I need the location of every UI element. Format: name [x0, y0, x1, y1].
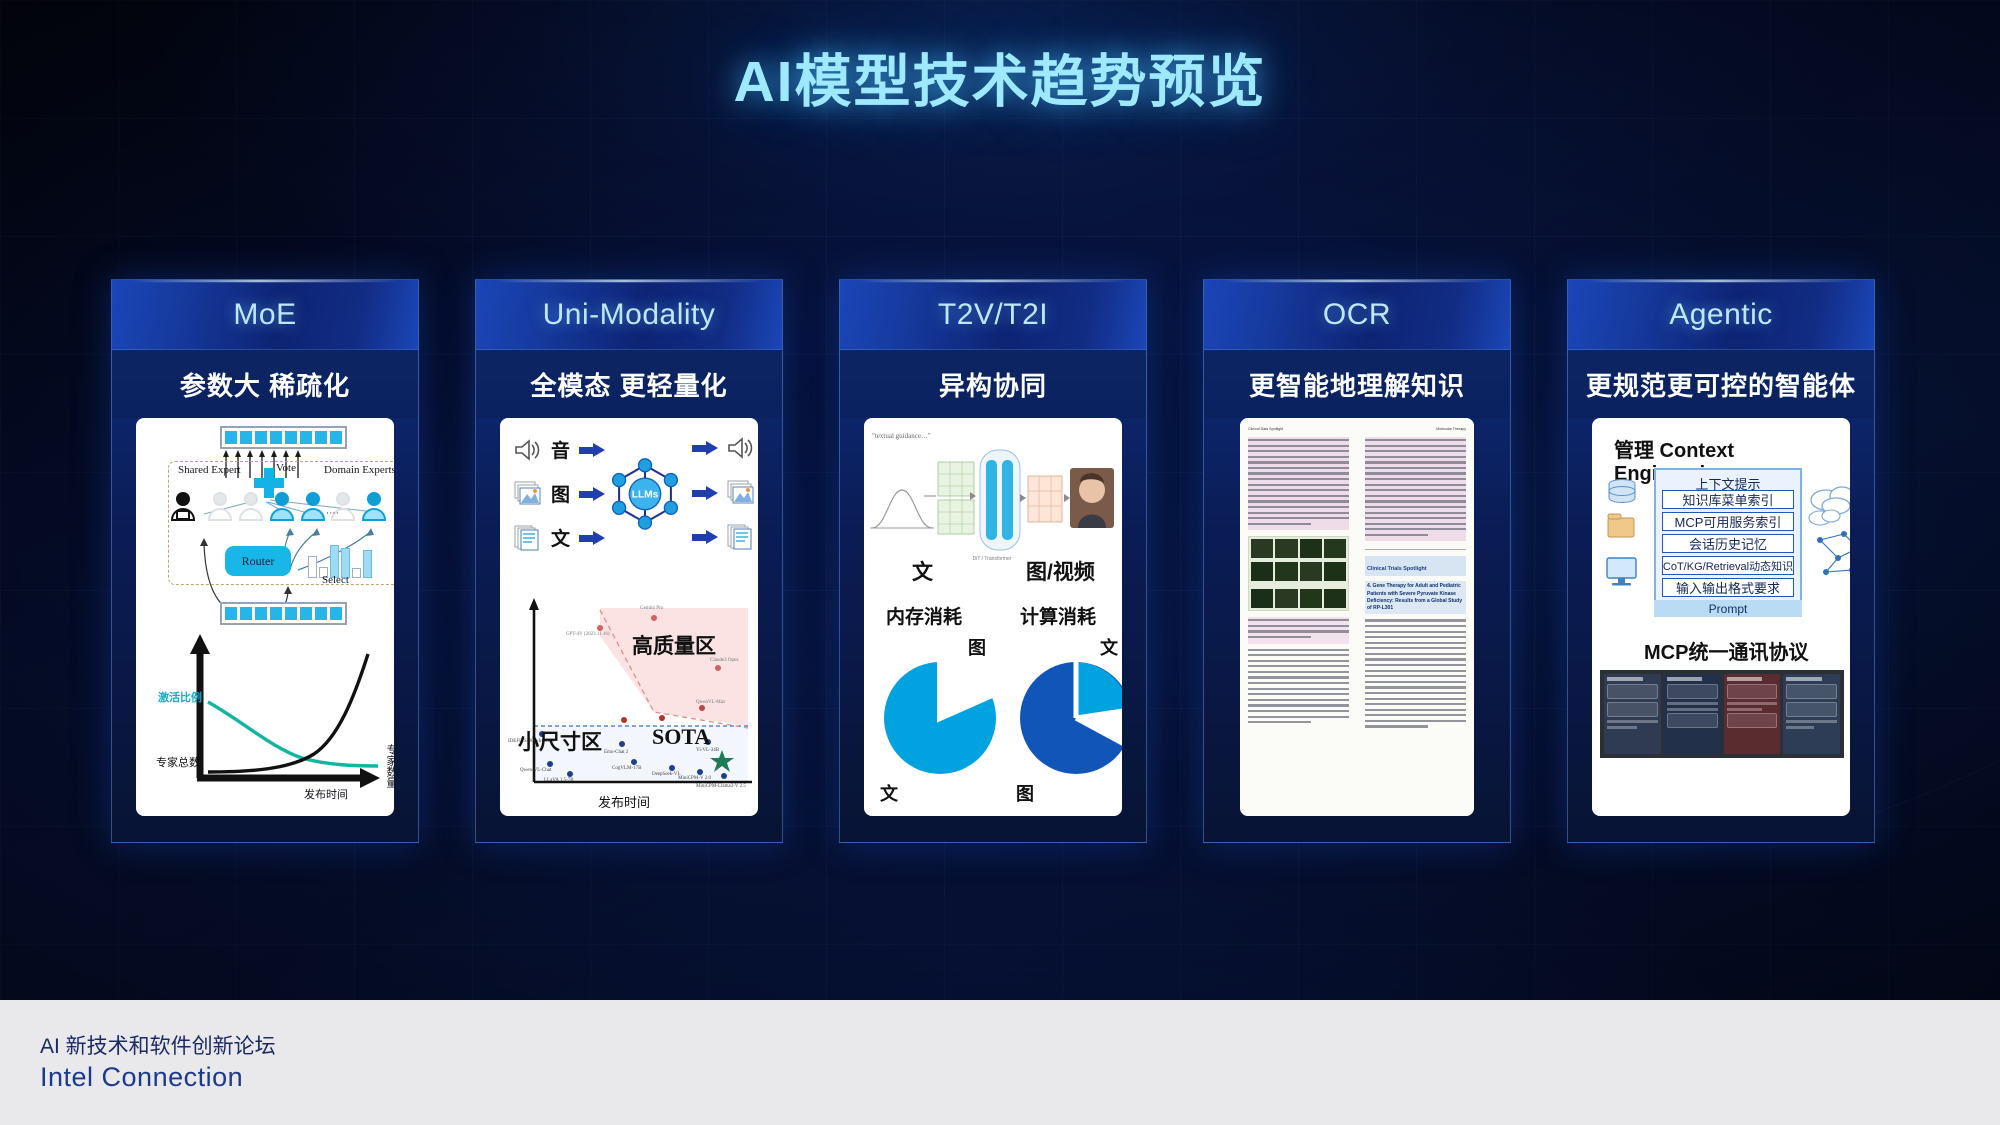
- ocr-figure-panel: [1248, 536, 1349, 611]
- database-icon: [1609, 480, 1635, 503]
- card-t2v-t2i[interactable]: T2V/T2I 异构协同 "textual guidance…": [839, 279, 1147, 843]
- card-agentic[interactable]: Agentic 更规范更可控的智能体 管理 Context Engineerin…: [1567, 279, 1875, 843]
- uni-input-text-label: 文: [551, 524, 570, 551]
- pie-chart-compute: [1008, 650, 1122, 790]
- moe-experts-row: [168, 490, 394, 528]
- moe-label-shared-expert: Shared Expert: [178, 464, 241, 476]
- moe-label-select: Select: [322, 574, 349, 586]
- uni-input-image-label: 图: [551, 480, 570, 507]
- uni-output-audio: [692, 436, 755, 460]
- pie-chart-memory: [872, 650, 1012, 790]
- speaker-icon: [514, 438, 542, 462]
- card-moe-body: Shared Expert Vote Domain Experts: [136, 418, 394, 816]
- uni-llm-hub: LLMs: [608, 456, 682, 530]
- arrow-right-icon: [579, 531, 605, 545]
- card-uni-modality-header: Uni-Modality: [476, 280, 782, 350]
- t2v-pipeline-diagram: "textual guidance…": [864, 418, 1122, 588]
- pie-title-memory: 内存消耗: [886, 602, 962, 629]
- moe-chart-xlabel: 发布时间: [304, 786, 348, 802]
- moe-label-domain-experts: Domain Experts: [324, 464, 394, 476]
- ocr-page-header-left: Clinical Data Spotlight: [1248, 427, 1283, 431]
- speaker-icon: [727, 436, 755, 460]
- t2v-label-text: 文: [912, 556, 933, 586]
- moe-router-node: Router: [225, 546, 291, 576]
- uni-zone-label-high-quality: 高质量区: [632, 630, 716, 660]
- ocr-article-title: 4. Gene Therapy for Adult and Pediatric …: [1367, 583, 1464, 612]
- agentic-left-icons: [1602, 474, 1646, 614]
- t2v-label-image-video: 图/视频: [1026, 556, 1095, 586]
- card-ocr-subtitle: 更智能地理解知识: [1204, 350, 1510, 418]
- uni-output-text: [692, 524, 755, 550]
- agentic-right-icons: [1804, 476, 1850, 596]
- uni-input-text: 文: [514, 524, 605, 551]
- agentic-row-knowledge-index[interactable]: 知识库菜单索引: [1662, 490, 1794, 509]
- uni-point-label-qwenvlchat: Qwen-VL-Chat: [520, 768, 551, 773]
- moe-chart-ylabel-right: 专家数量: [383, 744, 394, 788]
- agentic-mcp-screenshot: [1600, 670, 1844, 758]
- arrow-right-icon: [579, 487, 605, 501]
- uni-point-label-cogvlm: CogVLM-17B: [612, 766, 641, 771]
- pie-compute-slice-label-image: 图: [1016, 780, 1034, 806]
- card-ocr-header: OCR: [1204, 280, 1510, 350]
- uni-chart-xlabel: 发布时间: [598, 792, 650, 811]
- moe-select-bars: [308, 544, 372, 578]
- svg-text:DiT / Transformer: DiT / Transformer: [973, 556, 1012, 562]
- arrow-right-icon: [579, 443, 605, 457]
- card-t2v-t2i-subtitle: 异构协同: [840, 350, 1146, 418]
- uni-modality-scatter-chart: GPT-4V (2023.11.16) Gemini Pro Claude3 O…: [500, 596, 758, 816]
- agentic-row-io-format[interactable]: 输入输出格式要求: [1662, 578, 1794, 597]
- uni-point-label-emuchat2: Emu-Chat 2: [604, 750, 628, 755]
- ocr-page-header-right: Molecular Therapy: [1436, 427, 1466, 431]
- document-stack-icon: [514, 525, 542, 551]
- card-moe-header: MoE: [112, 280, 418, 350]
- mcp-panel-servers: [1783, 674, 1840, 754]
- uni-input-audio: 音: [514, 436, 605, 463]
- card-agentic-body: 管理 Context Engineering: [1592, 418, 1850, 816]
- image-stack-icon: [727, 480, 755, 506]
- card-ocr-header-label: OCR: [1323, 298, 1391, 332]
- image-stack-icon: [514, 481, 542, 507]
- arrow-right-icon: [692, 486, 718, 500]
- card-ocr-body: Clinical Data Spotlight: [1240, 418, 1474, 816]
- agentic-row-session-memory[interactable]: 会话历史记忆: [1662, 534, 1794, 553]
- pie-memory-slice-label-text: 文: [880, 780, 898, 806]
- moe-input-token-bar: [220, 602, 347, 625]
- card-ocr[interactable]: OCR 更智能地理解知识 Clinical Data Spotlight: [1203, 279, 1511, 843]
- uni-modality-diagram: 音 图: [500, 418, 758, 578]
- cloud-icon: [1809, 510, 1840, 525]
- moe-trend-chart: 激活比例 专家总数 发布时间 专家数量: [136, 626, 394, 816]
- card-uni-modality-header-label: Uni-Modality: [543, 298, 716, 332]
- svg-text:LLMs: LLMs: [632, 490, 659, 501]
- uni-point-label-gemini-pro: Gemini Pro: [640, 606, 663, 611]
- uni-point-label-qwenvl-max: QwenVL-Max: [696, 700, 725, 705]
- ocr-page-column-left: Clinical Data Spotlight: [1240, 418, 1357, 816]
- moe-label-ellipsis: · · · ·: [326, 508, 338, 518]
- footer-forum-name: AI 新技术和软件创新论坛: [40, 1030, 276, 1060]
- agentic-prompt-chip: Prompt: [1654, 600, 1802, 617]
- t2v-pie-group: 内存消耗 计算消耗 图 文: [864, 602, 1122, 812]
- uni-point-label-gpt4v-2023: GPT-4V (2023.11.16): [566, 632, 612, 637]
- pie-memory-slice-label-image: 图: [968, 634, 986, 660]
- arrow-right-icon: [692, 441, 718, 455]
- uni-input-image: 图: [514, 480, 605, 507]
- ocr-page-column-right: Molecular Therapy Clinical Trials Spotli…: [1357, 418, 1474, 816]
- moe-architecture-diagram: Shared Expert Vote Domain Experts: [136, 418, 394, 623]
- mcp-panel-clients: [1604, 674, 1661, 754]
- card-agentic-header: Agentic: [1568, 280, 1874, 350]
- card-agentic-subtitle: 更规范更可控的智能体: [1568, 350, 1874, 418]
- arrow-right-icon: [692, 530, 718, 544]
- card-moe-subtitle: 参数大 稀疏化: [112, 350, 418, 418]
- monitor-icon: [1607, 558, 1636, 586]
- ocr-scanned-page: Clinical Data Spotlight: [1240, 418, 1474, 816]
- uni-point-label-minicpmv2: MiniCPM-V 2.0: [678, 776, 711, 781]
- card-uni-modality-subtitle: 全模态 更轻量化: [476, 350, 782, 418]
- ocr-section-title: Clinical Trials Spotlight: [1367, 566, 1427, 572]
- uni-point-label-deepseekvl: DeepSeek-VL: [652, 772, 681, 777]
- card-row: MoE 参数大 稀疏化: [111, 279, 1891, 843]
- uni-point-label-llava: LLaVA 1.5-7B: [544, 778, 574, 783]
- uni-output-image: [692, 480, 755, 506]
- uni-sota-label: SOTA: [652, 724, 710, 750]
- moe-chart-label-activation: 激活比例: [158, 689, 202, 705]
- mcp-panel-protocol: [1664, 674, 1721, 754]
- network-icon: [1817, 531, 1850, 575]
- card-t2v-t2i-body: "textual guidance…": [864, 418, 1122, 816]
- mcp-panel-report-generator: [1724, 674, 1781, 754]
- uni-zone-label-small-size: 小尺寸区: [518, 726, 602, 756]
- card-t2v-t2i-header-label: T2V/T2I: [938, 298, 1048, 332]
- pie-title-compute: 计算消耗: [1020, 602, 1096, 629]
- uni-scatter-svg: [504, 596, 758, 814]
- page-title: AI模型技术趋势预览: [0, 36, 2000, 118]
- card-t2v-t2i-header: T2V/T2I: [840, 280, 1146, 350]
- t2v-pipeline-svg: DiT / Transformer: [864, 436, 1122, 566]
- card-uni-modality-body: 音 图: [500, 418, 758, 816]
- agentic-mcp-title: MCP统一通讯协议: [1644, 636, 1808, 665]
- card-moe-header-label: MoE: [233, 298, 296, 332]
- card-moe[interactable]: MoE 参数大 稀疏化: [111, 279, 419, 843]
- agentic-row-dynamic-knowledge[interactable]: CoT/KG/Retrieval动态知识: [1662, 556, 1794, 575]
- uni-input-audio-label: 音: [551, 436, 570, 463]
- pie-compute-slice-label-text: 文: [1100, 634, 1118, 660]
- card-agentic-header-label: Agentic: [1669, 298, 1773, 332]
- document-stack-icon: [727, 524, 755, 550]
- moe-trend-chart-svg: [142, 626, 394, 811]
- footer-brand: Intel Connection: [40, 1062, 243, 1093]
- folder-icon: [1608, 514, 1634, 537]
- footer-bar: AI 新技术和软件创新论坛 Intel Connection: [0, 1000, 2000, 1125]
- card-uni-modality[interactable]: Uni-Modality 全模态 更轻量化 音: [475, 279, 783, 843]
- moe-chart-label-total-experts: 专家总数: [156, 754, 200, 770]
- agentic-row-mcp-service-index[interactable]: MCP可用服务索引: [1662, 512, 1794, 531]
- uni-point-label-minicpm-llama3: MiniCPM-Llama3-V 2.5: [696, 784, 746, 789]
